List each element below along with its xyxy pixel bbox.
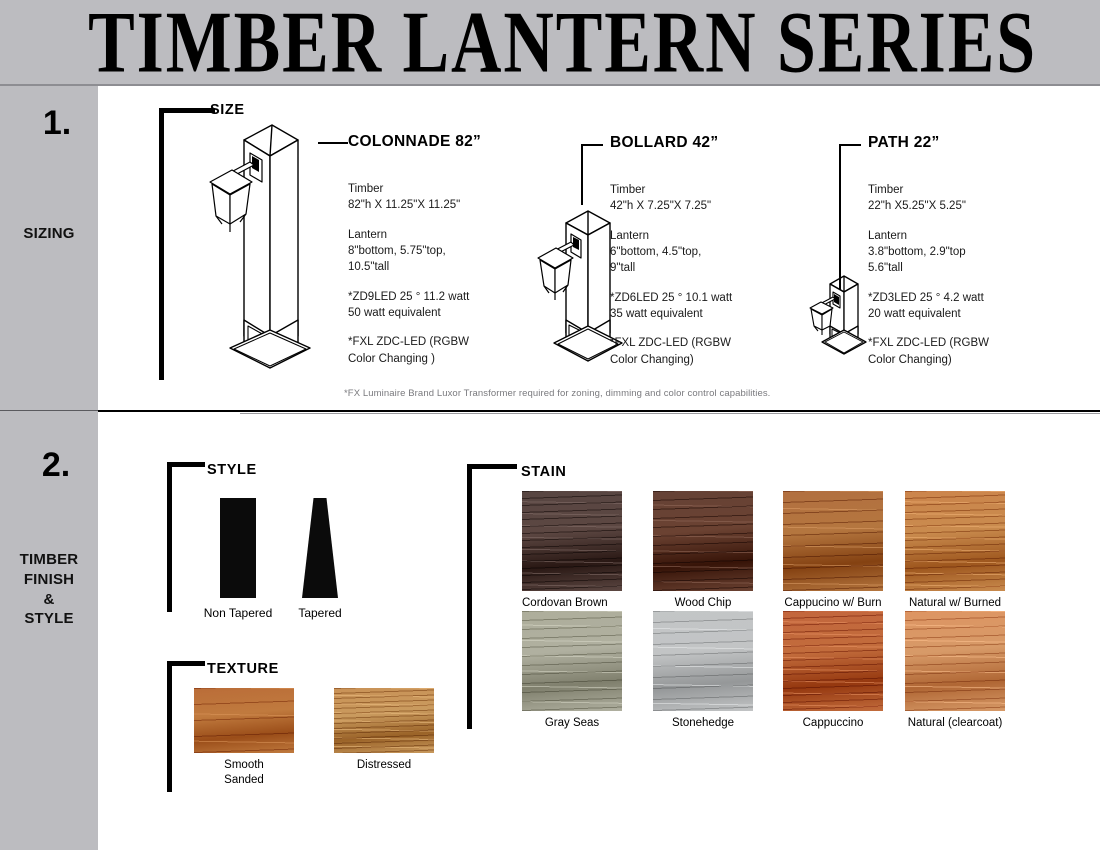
sizing-footnote: *FX Luminaire Brand Luxor Transformer re…	[344, 388, 770, 399]
rgbw-spec: *FXL ZDC-LED (RGBW Color Changing)	[610, 335, 800, 368]
section-divider-secondary	[240, 413, 1100, 414]
bollard-leader-line	[581, 144, 603, 146]
style-option-caption: Non Tapered	[200, 606, 276, 622]
sidebar-section-label: TIMBERFINISH&STYLE	[0, 550, 98, 629]
stain-caption: Wood Chip	[653, 596, 753, 611]
page-title: TIMBER LANTERN SERIES	[17, 0, 1084, 93]
stain-caption: Cappucino w/ Burn	[783, 596, 883, 611]
colonnade-illustration	[186, 120, 318, 375]
stain-swatch-image	[905, 491, 1005, 591]
stain-swatch-image	[783, 611, 883, 711]
sidebar-section-label: SIZING	[0, 224, 98, 244]
stain-swatch-image	[783, 491, 883, 591]
stain-caption: Natural w/ Burned	[905, 596, 1005, 611]
stain-swatch-image	[653, 491, 753, 591]
led-spec: *ZD9LED 25 ° 11.2 watt 50 watt equivalen…	[348, 289, 548, 322]
style-bracket-label: STYLE	[207, 462, 257, 478]
bollard-leader-vertical	[581, 145, 583, 205]
style-option-tapered[interactable]: Tapered	[288, 498, 352, 622]
stain-swatch-cappucino-w-burn[interactable]: Cappucino w/ Burn	[783, 491, 883, 611]
style-option-caption: Tapered	[288, 606, 352, 622]
sidebar: 1. SIZING 2. TIMBERFINISH&STYLE	[0, 86, 98, 850]
sidebar-section-number: 1.	[16, 106, 98, 140]
size-bracket-label: SIZE	[210, 102, 245, 118]
lantern-spec: Lantern 3.8"bottom, 2.9"top 5.6"tall	[868, 228, 1058, 277]
timber-spec: Timber 82"h X 11.25"X 11.25"	[348, 181, 548, 214]
stain-bracket	[467, 464, 517, 729]
stain-swatch-stonehedge[interactable]: Stonehedge	[653, 611, 753, 731]
header-divider	[0, 84, 1100, 86]
stain-swatch-gray-seas[interactable]: Gray Seas	[522, 611, 622, 731]
stain-caption: Cappuccino	[783, 716, 883, 731]
path-leader-line	[839, 144, 861, 146]
product-title: COLONNADE 82”	[348, 133, 548, 151]
stain-swatch-cordovan-brown[interactable]: Cordovan Brown	[522, 491, 622, 611]
stain-caption: Stonehedge	[653, 716, 753, 731]
colonnade-leader-line	[318, 142, 348, 144]
stain-swatch-cappuccino[interactable]: Cappuccino	[783, 611, 883, 731]
texture-caption: Smooth Sanded	[194, 758, 294, 788]
texture-swatch-image	[334, 688, 434, 753]
stain-swatch-natural-w-burned[interactable]: Natural w/ Burned	[905, 491, 1005, 611]
texture-swatch-smooth-sanded[interactable]: Smooth Sanded	[194, 688, 294, 788]
stain-swatch-image	[522, 491, 622, 591]
sidebar-section-sizing: 1. SIZING	[0, 106, 98, 244]
lantern-spec: Lantern 8"bottom, 5.75"top, 10.5"tall	[348, 227, 548, 276]
stain-swatch-image	[653, 611, 753, 711]
section-divider	[98, 410, 1100, 412]
rgbw-spec: *FXL ZDC-LED (RGBW Color Changing)	[868, 335, 1058, 368]
product-title: BOLLARD 42”	[610, 134, 800, 152]
sidebar-section-finish: 2. TIMBERFINISH&STYLE	[0, 448, 98, 629]
spec-column-colonnade: COLONNADE 82” Timber 82"h X 11.25"X 11.2…	[348, 133, 548, 367]
led-spec: *ZD6LED 25 ° 10.1 watt 35 watt equivalen…	[610, 290, 800, 323]
section-divider-extension	[0, 410, 98, 411]
rgbw-spec: *FXL ZDC-LED (RGBW Color Changing )	[348, 334, 548, 367]
tapered-silhouette	[302, 498, 338, 598]
timber-spec: Timber 22"h X5.25"X 5.25"	[868, 182, 1058, 215]
led-spec: *ZD3LED 25 ° 4.2 watt 20 watt equivalent	[868, 290, 1058, 323]
timber-spec: Timber 42"h X 7.25"X 7.25"	[610, 182, 800, 215]
stain-bracket-label: STAIN	[521, 464, 566, 480]
stain-swatch-wood-chip[interactable]: Wood Chip	[653, 491, 753, 611]
non-tapered-silhouette	[220, 498, 256, 598]
path-leader-vertical	[839, 145, 841, 290]
texture-caption: Distressed	[334, 758, 434, 773]
stain-caption: Gray Seas	[522, 716, 622, 731]
stain-caption: Natural (clearcoat)	[905, 716, 1005, 731]
stain-caption: Cordovan Brown	[522, 596, 622, 611]
product-title: PATH 22”	[868, 134, 1058, 152]
texture-swatch-image	[194, 688, 294, 753]
stain-swatch-image	[522, 611, 622, 711]
texture-swatch-distressed[interactable]: Distressed	[334, 688, 434, 773]
sidebar-section-number: 2.	[14, 448, 98, 482]
texture-bracket-label: TEXTURE	[207, 661, 279, 677]
stain-swatch-natural-clearcoat[interactable]: Natural (clearcoat)	[905, 611, 1005, 731]
style-option-non-tapered[interactable]: Non Tapered	[200, 498, 276, 622]
spec-column-path: PATH 22” Timber 22"h X5.25"X 5.25" Lante…	[868, 134, 1058, 368]
lantern-spec: Lantern 6"bottom, 4.5"top, 9"tall	[610, 228, 800, 277]
stain-swatch-image	[905, 611, 1005, 711]
spec-column-bollard: BOLLARD 42” Timber 42"h X 7.25"X 7.25" L…	[610, 134, 800, 368]
